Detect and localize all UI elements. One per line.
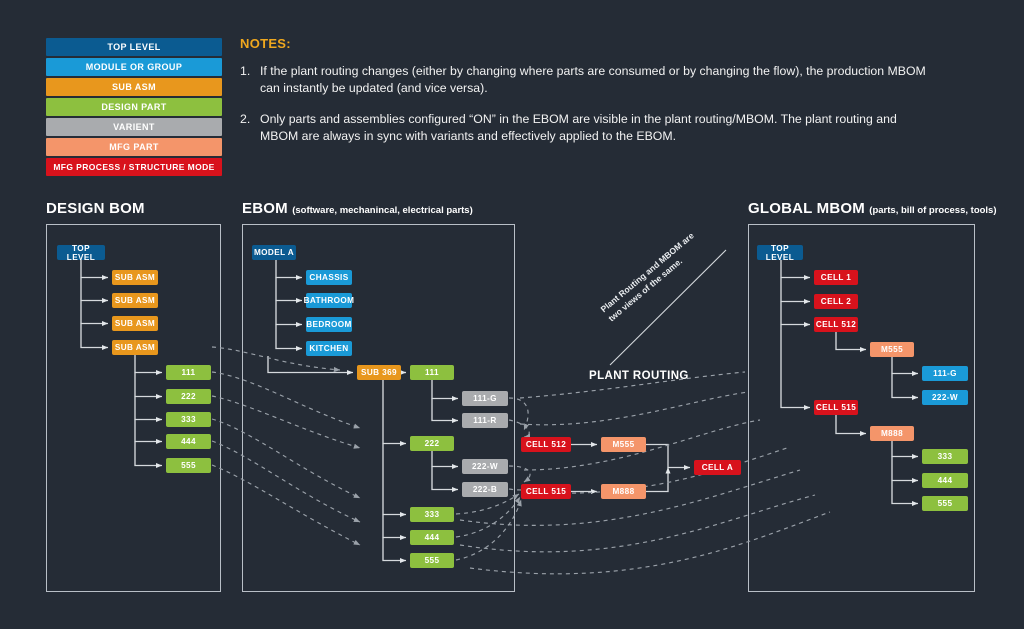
note-item-1: 1. If the plant routing changes (either … (240, 63, 930, 98)
design-bom-title: DESIGN BOM (46, 200, 145, 217)
ebom-node-444[interactable]: 444 (410, 530, 454, 545)
diagram-canvas: TOP LEVEL MODULE OR GROUP SUB ASM DESIGN… (0, 0, 1024, 629)
legend-item-sub-asm: SUB ASM (46, 78, 222, 96)
ebom-title: EBOM (software, mechanincal, electrical … (242, 200, 473, 217)
ebom-node-111-g[interactable]: 111-G (462, 391, 508, 406)
plant-routing-annotation-line1: Plant Routing and MBOM are (598, 230, 697, 316)
design-bom-node-222[interactable]: 222 (166, 389, 211, 404)
note-number: 1. (240, 63, 250, 80)
ebom-node-111-r[interactable]: 111-R (462, 413, 508, 428)
design-bom-node-sub-asm-4[interactable]: SUB ASM (112, 340, 158, 355)
ebom-title-text: EBOM (242, 200, 288, 217)
note-text: Only parts and assemblies configured “ON… (260, 112, 897, 143)
mbom-node-222-w[interactable]: 222-W (922, 390, 968, 405)
mbom-node-444[interactable]: 444 (922, 473, 968, 488)
design-bom-node-555[interactable]: 555 (166, 458, 211, 473)
design-bom-node-sub-asm-2[interactable]: SUB ASM (112, 293, 158, 308)
mbom-node-333[interactable]: 333 (922, 449, 968, 464)
global-mbom-title: GLOBAL MBOM (parts, bill of process, too… (748, 200, 997, 217)
plant-routing-node-m555[interactable]: M555 (601, 437, 646, 452)
plant-routing-node-cell-a[interactable]: CELL A (694, 460, 741, 475)
ebom-node-model-a[interactable]: MODEL A (252, 245, 296, 260)
plant-routing-annotation: Plant Routing and MBOM are two views of … (598, 230, 705, 325)
plant-routing-node-cell-512[interactable]: CELL 512 (521, 437, 571, 452)
mbom-node-m888[interactable]: M888 (870, 426, 914, 441)
ebom-node-222-w[interactable]: 222-W (462, 459, 508, 474)
design-bom-title-text: DESIGN BOM (46, 200, 145, 217)
mbom-node-cell-2[interactable]: CELL 2 (814, 294, 858, 309)
note-text: If the plant routing changes (either by … (260, 64, 926, 95)
notes-title: NOTES: (240, 36, 930, 51)
design-bom-node-sub-asm-1[interactable]: SUB ASM (112, 270, 158, 285)
note-item-2: 2. Only parts and assemblies configured … (240, 111, 930, 146)
mbom-node-cell-515[interactable]: CELL 515 (814, 400, 858, 415)
legend-item-varient: VARIENT (46, 118, 222, 136)
notes-block: NOTES: 1. If the plant routing changes (… (240, 36, 930, 159)
design-bom-node-111[interactable]: 111 (166, 365, 211, 380)
design-bom-node-sub-asm-3[interactable]: SUB ASM (112, 316, 158, 331)
global-mbom-panel (748, 224, 975, 592)
ebom-node-555[interactable]: 555 (410, 553, 454, 568)
plant-routing-annotation-line2: two views of the same. (606, 239, 705, 325)
ebom-node-bathroom[interactable]: BATHROOM (306, 293, 352, 308)
legend-item-module: MODULE OR GROUP (46, 58, 222, 76)
legend-item-mfg-part: MFG PART (46, 138, 222, 156)
ebom-node-222-b[interactable]: 222-B (462, 482, 508, 497)
note-number: 2. (240, 111, 250, 128)
plant-routing-node-m888[interactable]: M888 (601, 484, 646, 499)
mbom-node-m555[interactable]: M555 (870, 342, 914, 357)
ebom-panel (242, 224, 515, 592)
legend-item-mfg-process: MFG PROCESS / STRUCTURE MODE (46, 158, 222, 176)
design-bom-node-444[interactable]: 444 (166, 434, 211, 449)
plant-routing-node-cell-515[interactable]: CELL 515 (521, 484, 571, 499)
mbom-node-555[interactable]: 555 (922, 496, 968, 511)
ebom-node-kitchen[interactable]: KITCHEN (306, 341, 352, 356)
global-mbom-subtitle-text: (parts, bill of process, tools) (869, 205, 996, 216)
ebom-node-333[interactable]: 333 (410, 507, 454, 522)
ebom-node-sub-369[interactable]: SUB 369 (357, 365, 401, 380)
ebom-node-chassis[interactable]: CHASSIS (306, 270, 352, 285)
mbom-node-111-g[interactable]: 111-G (922, 366, 968, 381)
mbom-node-top-level[interactable]: TOP LEVEL (757, 245, 803, 260)
design-bom-node-333[interactable]: 333 (166, 412, 211, 427)
legend-item-top-level: TOP LEVEL (46, 38, 222, 56)
mbom-node-cell-1[interactable]: CELL 1 (814, 270, 858, 285)
legend-item-design-part: DESIGN PART (46, 98, 222, 116)
ebom-node-bedroom[interactable]: BEDROOM (306, 317, 352, 332)
global-mbom-title-text: GLOBAL MBOM (748, 200, 865, 217)
design-bom-node-top-level[interactable]: TOP LEVEL (57, 245, 105, 260)
notes-list: 1. If the plant routing changes (either … (240, 63, 930, 146)
mbom-node-cell-512[interactable]: CELL 512 (814, 317, 858, 332)
ebom-node-111[interactable]: 111 (410, 365, 454, 380)
ebom-subtitle-text: (software, mechanincal, electrical parts… (292, 205, 473, 216)
bom-legend: TOP LEVEL MODULE OR GROUP SUB ASM DESIGN… (46, 38, 222, 178)
plant-routing-label: PLANT ROUTING (589, 370, 689, 382)
ebom-node-222[interactable]: 222 (410, 436, 454, 451)
